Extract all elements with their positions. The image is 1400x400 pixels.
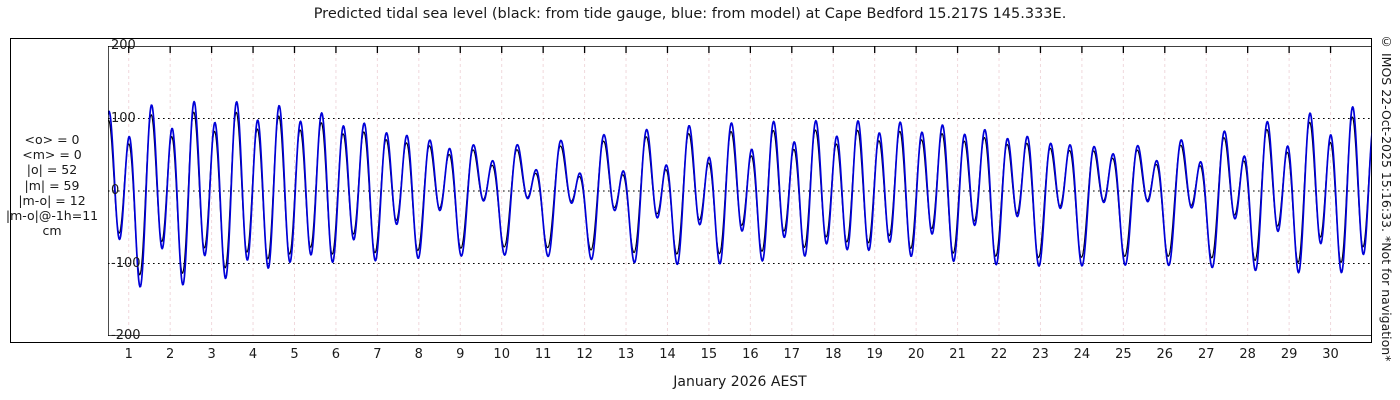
y-tick-label--200: -200 <box>111 328 141 343</box>
x-tick-label-17: 17 <box>772 347 812 362</box>
tide-series-svg <box>108 46 1372 336</box>
x-tick-label-4: 4 <box>233 347 273 362</box>
x-tick-label-22: 22 <box>979 347 1019 362</box>
statistics-block: <o> = 0 <m> = 0 |o| = 52 |m| = 59 |m-o| … <box>0 132 104 238</box>
tidal-chart-figure: Predicted tidal sea level (black: from t… <box>0 0 1400 400</box>
stat-line-4: |m-o| = 12 <box>0 193 104 208</box>
x-tick-label-28: 28 <box>1228 347 1268 362</box>
x-tick-label-2: 2 <box>150 347 190 362</box>
y-tick-label--100: -100 <box>111 256 141 271</box>
x-tick-label-16: 16 <box>730 347 770 362</box>
y-tick-label-0: 0 <box>111 183 119 198</box>
x-tick-label-12: 12 <box>565 347 605 362</box>
stat-line-3: |m| = 59 <box>0 178 104 193</box>
x-tick-label-3: 3 <box>192 347 232 362</box>
x-axis-title: January 2026 AEST <box>108 374 1372 390</box>
page-title: Predicted tidal sea level (black: from t… <box>0 6 1380 22</box>
x-tick-label-20: 20 <box>896 347 936 362</box>
copyright-note: © IMOS 22-Oct-2025 15:16:33. *Not for na… <box>1379 0 1400 400</box>
x-tick-label-15: 15 <box>689 347 729 362</box>
x-tick-label-29: 29 <box>1269 347 1309 362</box>
x-tick-label-18: 18 <box>813 347 853 362</box>
x-tick-label-10: 10 <box>482 347 522 362</box>
stat-line-0: <o> = 0 <box>0 132 104 147</box>
x-tick-label-30: 30 <box>1311 347 1351 362</box>
x-tick-label-6: 6 <box>316 347 356 362</box>
x-tick-label-24: 24 <box>1062 347 1102 362</box>
x-tick-label-26: 26 <box>1145 347 1185 362</box>
stat-line-5: |m-o|@-1h=11 <box>0 208 104 223</box>
stat-line-1: <m> = 0 <box>0 147 104 162</box>
x-tick-label-21: 21 <box>938 347 978 362</box>
plot-area <box>108 46 1372 336</box>
x-tick-label-11: 11 <box>523 347 563 362</box>
x-tick-label-27: 27 <box>1186 347 1226 362</box>
x-tick-label-8: 8 <box>399 347 439 362</box>
x-tick-label-1: 1 <box>109 347 149 362</box>
x-tick-label-23: 23 <box>1020 347 1060 362</box>
y-tick-label-200: 200 <box>111 38 136 53</box>
x-tick-label-9: 9 <box>440 347 480 362</box>
stat-line-2: |o| = 52 <box>0 162 104 177</box>
x-tick-label-19: 19 <box>855 347 895 362</box>
x-tick-label-13: 13 <box>606 347 646 362</box>
x-tick-label-5: 5 <box>274 347 314 362</box>
x-tick-label-14: 14 <box>647 347 687 362</box>
y-tick-label-100: 100 <box>111 111 136 126</box>
x-tick-label-25: 25 <box>1103 347 1143 362</box>
stat-line-6: cm <box>0 223 104 238</box>
x-tick-label-7: 7 <box>357 347 397 362</box>
